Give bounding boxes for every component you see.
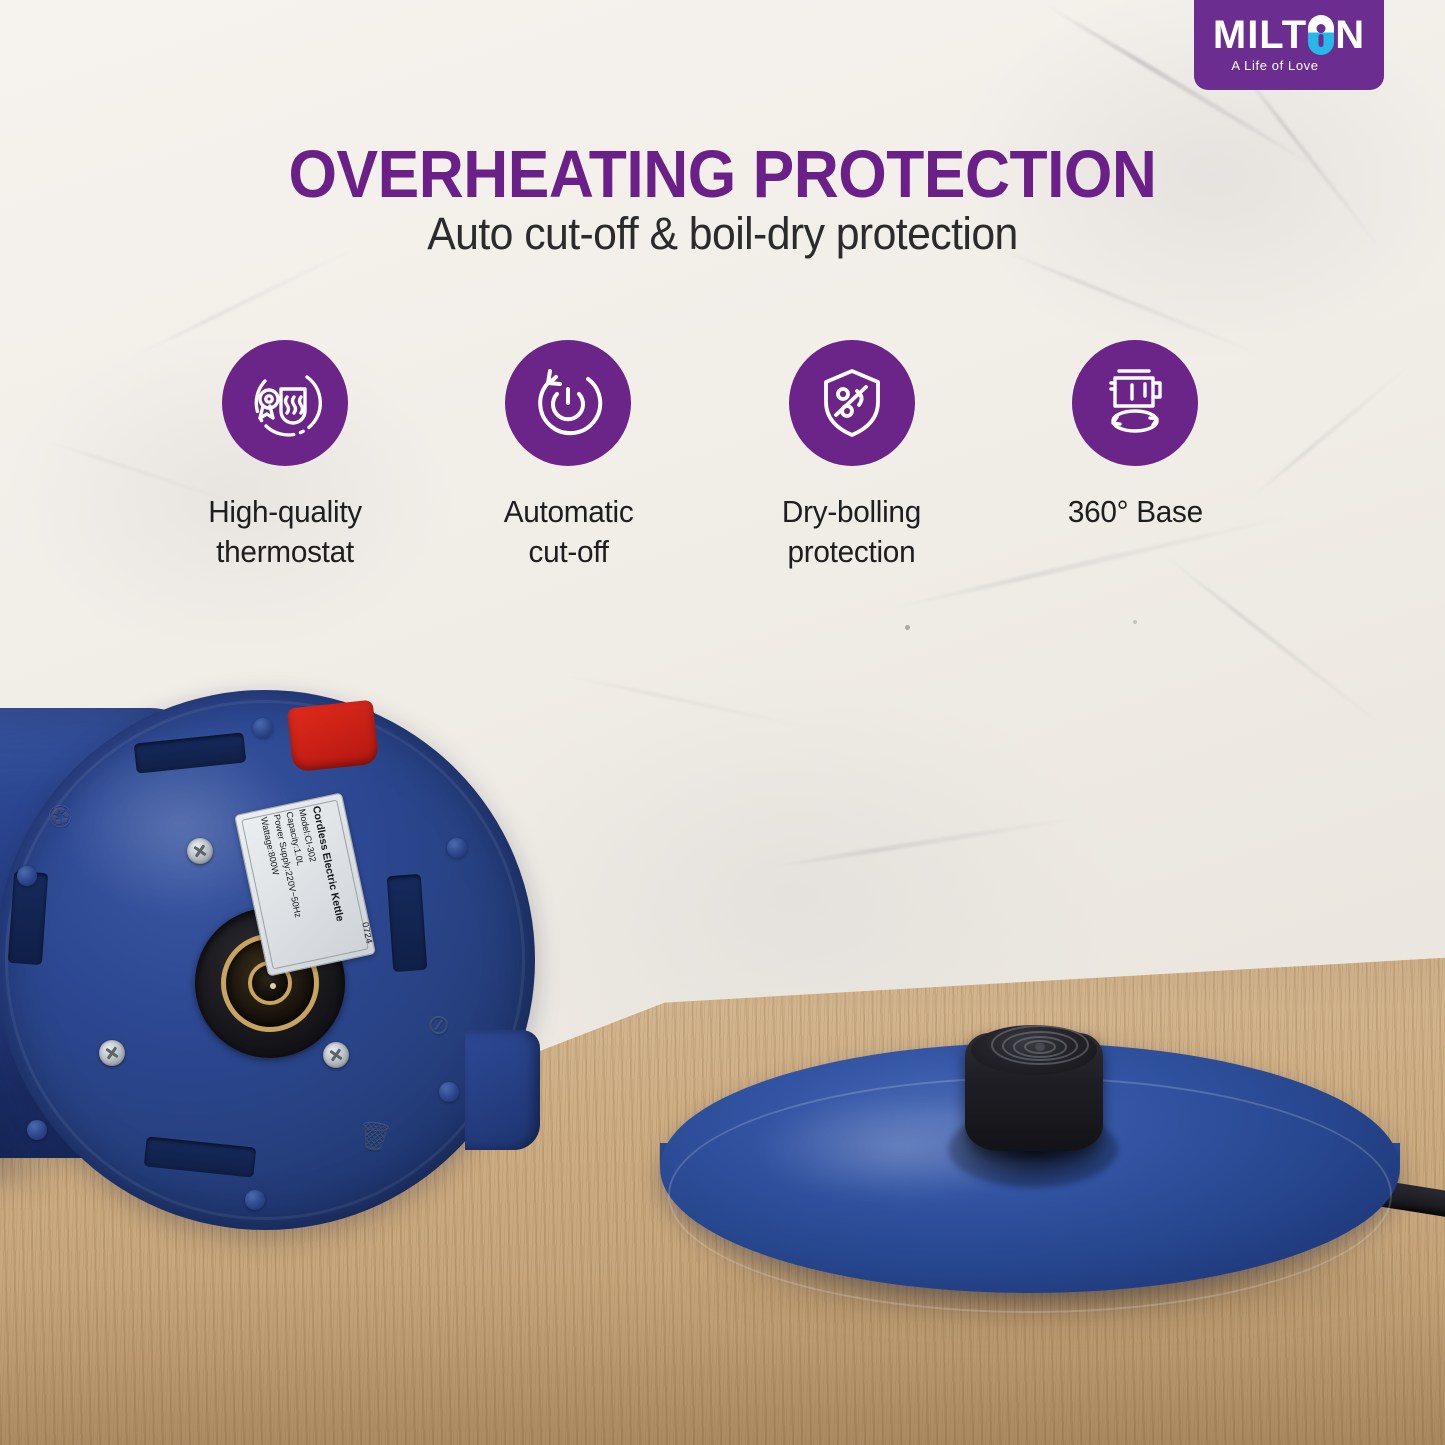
no-immersion-symbol-emboss: ⊘ [425, 1007, 453, 1043]
feature-item-360-base: 360° Base [1000, 340, 1270, 571]
kettle-product-photo: ♽ ⊘ 🗑 Cordless Electric Kettle Model: [0, 690, 630, 1290]
feature-label: High-quality thermostat [208, 492, 362, 571]
logo-o-capsule-icon [1308, 15, 1334, 55]
product-feature-banner: MILT N A Life of Love OVERHEATING PROTEC… [0, 0, 1445, 1445]
wee-bin-symbol-emboss: 🗑 [355, 1118, 395, 1156]
logo-tagline: A Life of Love [1231, 58, 1318, 73]
kettle-vent [387, 874, 428, 972]
kettle-rotate-base-icon [1072, 340, 1198, 466]
screw [99, 1040, 125, 1066]
feature-label: Dry-bolling protection [782, 492, 921, 571]
feature-list: High-quality thermostat Automatic cut-of… [150, 340, 1270, 571]
logo-wordmark: MILT N [1213, 15, 1365, 55]
kettle-power-base-photo [660, 1015, 1445, 1345]
feature-label: Automatic cut-off [503, 492, 633, 571]
milton-logo: MILT N A Life of Love [1194, 0, 1384, 90]
kettle-handle-base [465, 1030, 540, 1150]
feature-item-thermostat: High-quality thermostat [150, 340, 420, 571]
feature-item-dry-boil: Dry-bolling protection [717, 340, 987, 571]
logo-text-n: N [1335, 15, 1365, 55]
logo-text-mil: MILT [1213, 15, 1307, 55]
power-auto-cutoff-icon [505, 340, 631, 466]
page-title: OVERHEATING PROTECTION [51, 136, 1395, 213]
screw [187, 838, 213, 864]
feature-label: 360° Base [1067, 492, 1202, 532]
kettle-indicator-strip [287, 700, 379, 773]
thermostat-quality-icon [222, 340, 348, 466]
page-subtitle: Auto cut-off & boil-dry protection [36, 208, 1409, 260]
shield-dry-boil-icon [789, 340, 915, 466]
feature-item-auto-cutoff: Automatic cut-off [433, 340, 703, 571]
base-center-connector [965, 1033, 1103, 1151]
screw [323, 1042, 349, 1068]
